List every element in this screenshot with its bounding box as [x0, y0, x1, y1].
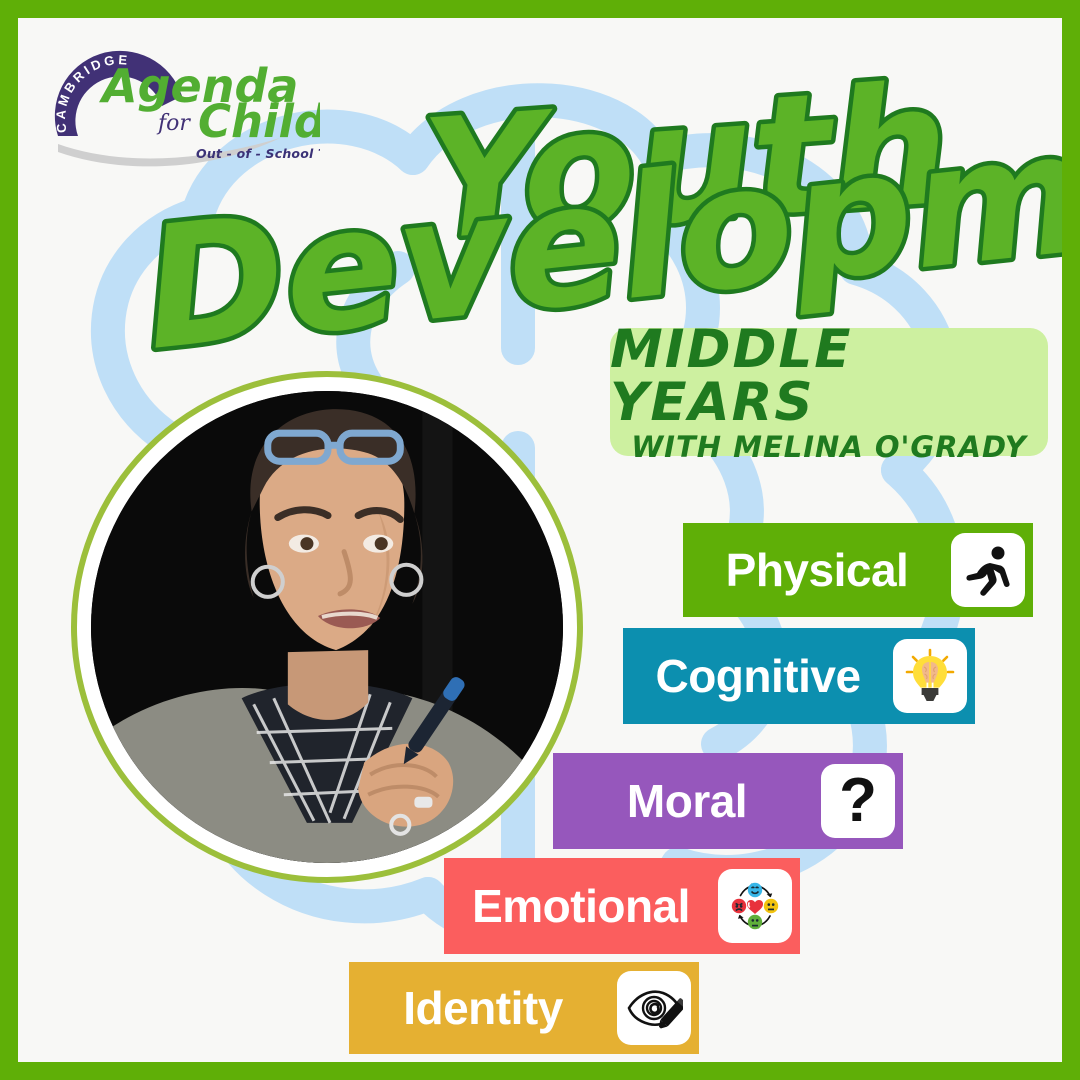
banner-headline: MIDDLE YEARS [610, 323, 1048, 429]
portrait-image [91, 391, 563, 863]
question-mark-glyph: ? [839, 770, 877, 832]
logo-tagline: Out - of - School Time [196, 146, 320, 161]
lightbulb-brain-icon [893, 639, 967, 713]
poster-root: CAMBRIDGE Agenda for Children Out - of -… [0, 0, 1080, 1080]
category-label-cognitive: Cognitive [623, 653, 893, 699]
running-person-icon [951, 533, 1025, 607]
category-bar-cognitive[interactable]: Cognitive [623, 628, 975, 724]
organization-logo: CAMBRIDGE Agenda for Children Out - of -… [50, 32, 320, 167]
category-label-moral: Moral [553, 778, 821, 824]
category-label-identity: Identity [349, 985, 617, 1031]
poster-canvas: CAMBRIDGE Agenda for Children Out - of -… [18, 18, 1062, 1062]
subtitle-banner: MIDDLE YEARS WITH MELINA O'GRADY [610, 328, 1048, 456]
logo-for-text: for [156, 111, 191, 136]
category-bar-identity[interactable]: Identity [349, 962, 699, 1054]
logo-children-text: Children [198, 95, 320, 148]
question-mark-icon: ? [821, 764, 895, 838]
eye-pencil-icon [617, 971, 691, 1045]
banner-presenter: WITH MELINA O'GRADY [631, 433, 1027, 462]
emotion-cycle-icon [718, 869, 792, 943]
category-label-emotional: Emotional [444, 883, 718, 929]
category-label-physical: Physical [683, 547, 951, 593]
category-bar-emotional[interactable]: Emotional [444, 858, 800, 954]
category-bar-physical[interactable]: Physical [683, 523, 1033, 617]
category-bar-moral[interactable]: Moral ? [553, 753, 903, 849]
presenter-portrait [71, 371, 583, 883]
